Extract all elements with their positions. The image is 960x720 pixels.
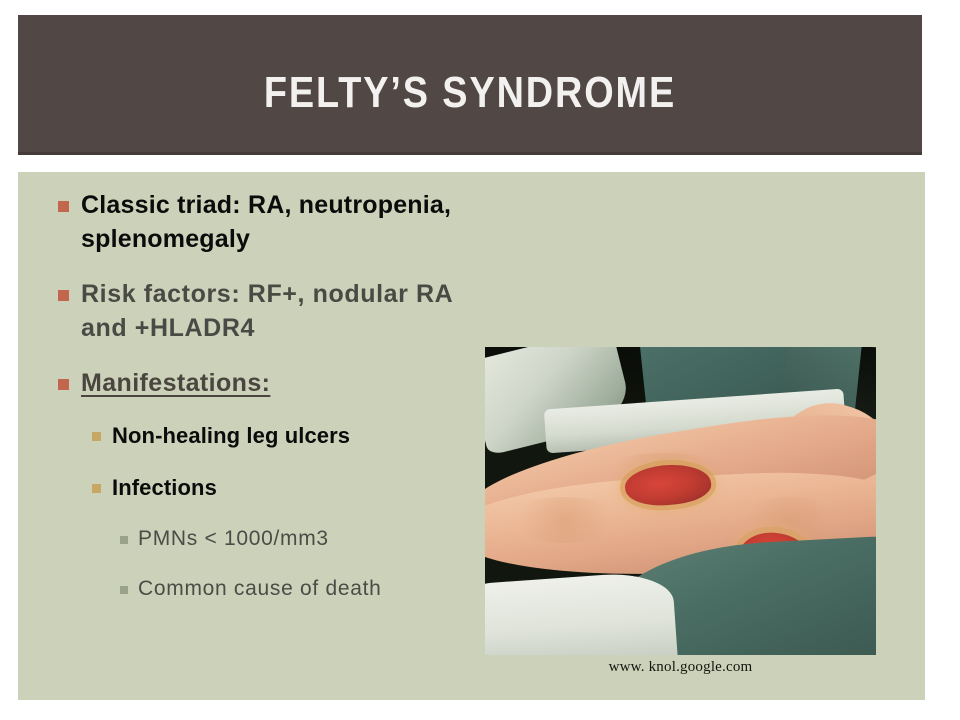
photo-skin-mottling	[505, 497, 625, 543]
list-item-label: Manifestations:	[81, 366, 270, 400]
bullet-square-icon	[58, 201, 69, 212]
bullet-list: Classic triad: RA, neutropenia, splenome…	[18, 172, 488, 625]
bullet-square-icon	[92, 432, 101, 441]
list-item: Infections	[18, 473, 488, 503]
figure-caption: www. knol.google.com	[485, 659, 876, 676]
list-item: Classic triad: RA, neutropenia, splenome…	[18, 188, 488, 256]
list-item-label: Risk factors: RF+, nodular RA and +HLADR…	[81, 277, 488, 345]
bullet-square-icon	[58, 290, 69, 301]
list-item: Risk factors: RF+, nodular RA and +HLADR…	[18, 277, 488, 345]
photo-canvas	[485, 347, 876, 655]
bullet-square-icon	[120, 536, 128, 544]
list-item-label: Classic triad: RA, neutropenia, splenome…	[81, 188, 488, 256]
list-item: Non-healing leg ulcers	[18, 421, 488, 451]
list-item-label: Infections	[112, 473, 217, 503]
bullet-square-icon	[92, 484, 101, 493]
clinical-photo	[485, 347, 876, 655]
list-item-label: Non-healing leg ulcers	[112, 421, 350, 451]
slide: FELTY’S SYNDROME Classic triad: RA, neut…	[0, 0, 960, 720]
list-item: Common cause of death	[18, 575, 488, 603]
list-item-label: PMNs < 1000/mm3	[138, 525, 329, 553]
list-item: Manifestations:	[18, 366, 488, 400]
list-item: PMNs < 1000/mm3	[18, 525, 488, 553]
bullet-square-icon	[58, 379, 69, 390]
slide-body-panel: Classic triad: RA, neutropenia, splenome…	[18, 172, 925, 700]
page-title: FELTY’S SYNDROME	[81, 71, 858, 115]
bullet-square-icon	[120, 586, 128, 594]
slide-title-bar: FELTY’S SYNDROME	[18, 15, 922, 155]
photo-white-towel	[485, 570, 678, 655]
list-item-label: Common cause of death	[138, 575, 382, 603]
